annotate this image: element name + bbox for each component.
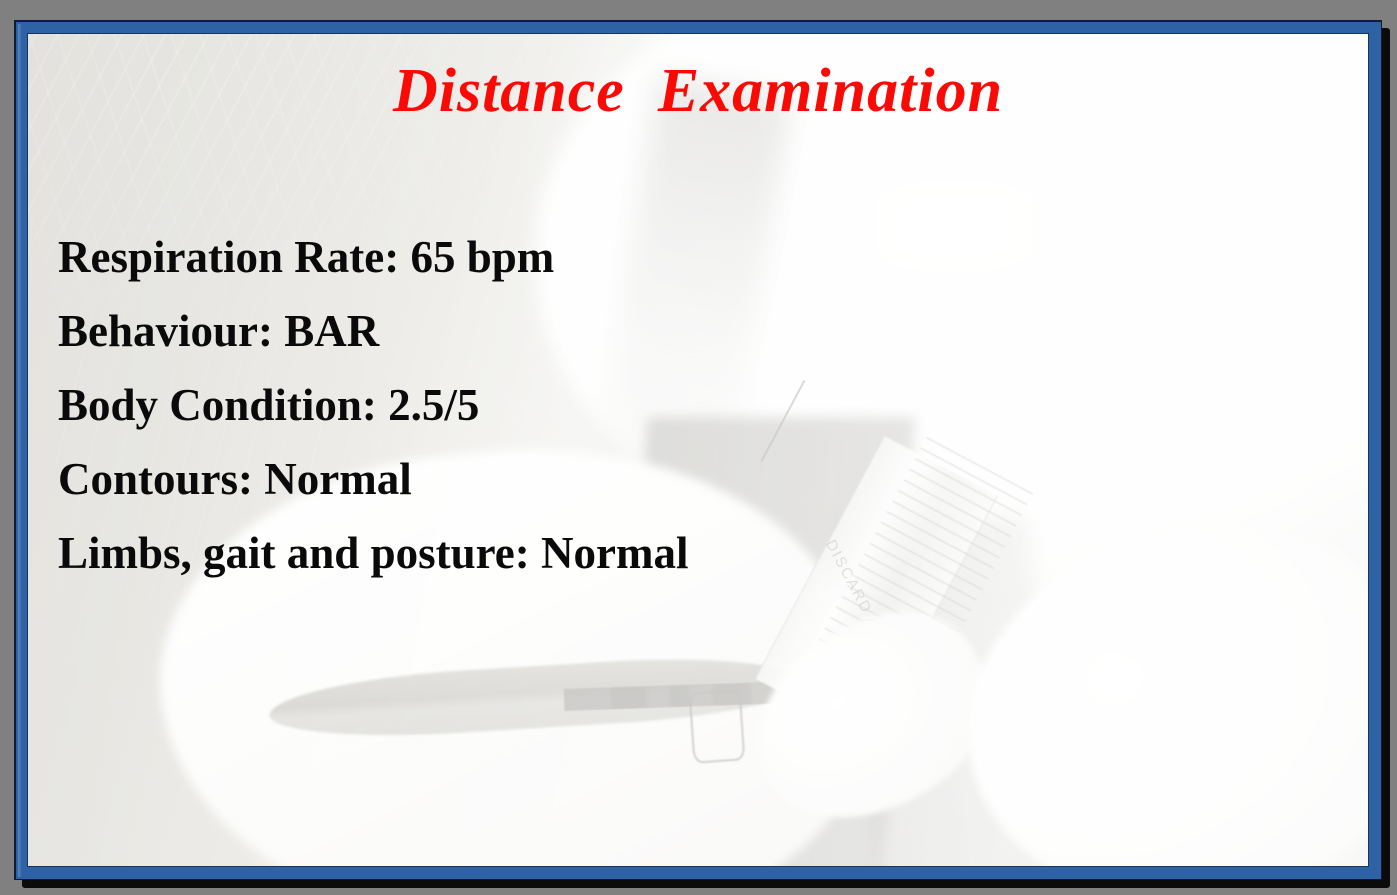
slide-canvas: DISCARD AFT Distance Examination Respira… — [27, 33, 1369, 867]
finding-contours: Contours: Normal — [58, 442, 688, 516]
slide-content: Distance Examination Respiration Rate: 6… — [28, 34, 1368, 866]
finding-behaviour: Behaviour: BAR — [58, 294, 688, 368]
slide-stage: DISCARD AFT Distance Examination Respira… — [0, 0, 1397, 895]
slide-frame: DISCARD AFT Distance Examination Respira… — [14, 20, 1382, 880]
finding-limbs-gait-posture: Limbs, gait and posture: Normal — [58, 516, 688, 590]
slide-title: Distance Examination — [28, 58, 1368, 125]
findings-list: Respiration Rate: 65 bpm Behaviour: BAR … — [58, 220, 688, 590]
finding-body-condition: Body Condition: 2.5/5 — [58, 368, 688, 442]
finding-respiration-rate: Respiration Rate: 65 bpm — [58, 220, 688, 294]
